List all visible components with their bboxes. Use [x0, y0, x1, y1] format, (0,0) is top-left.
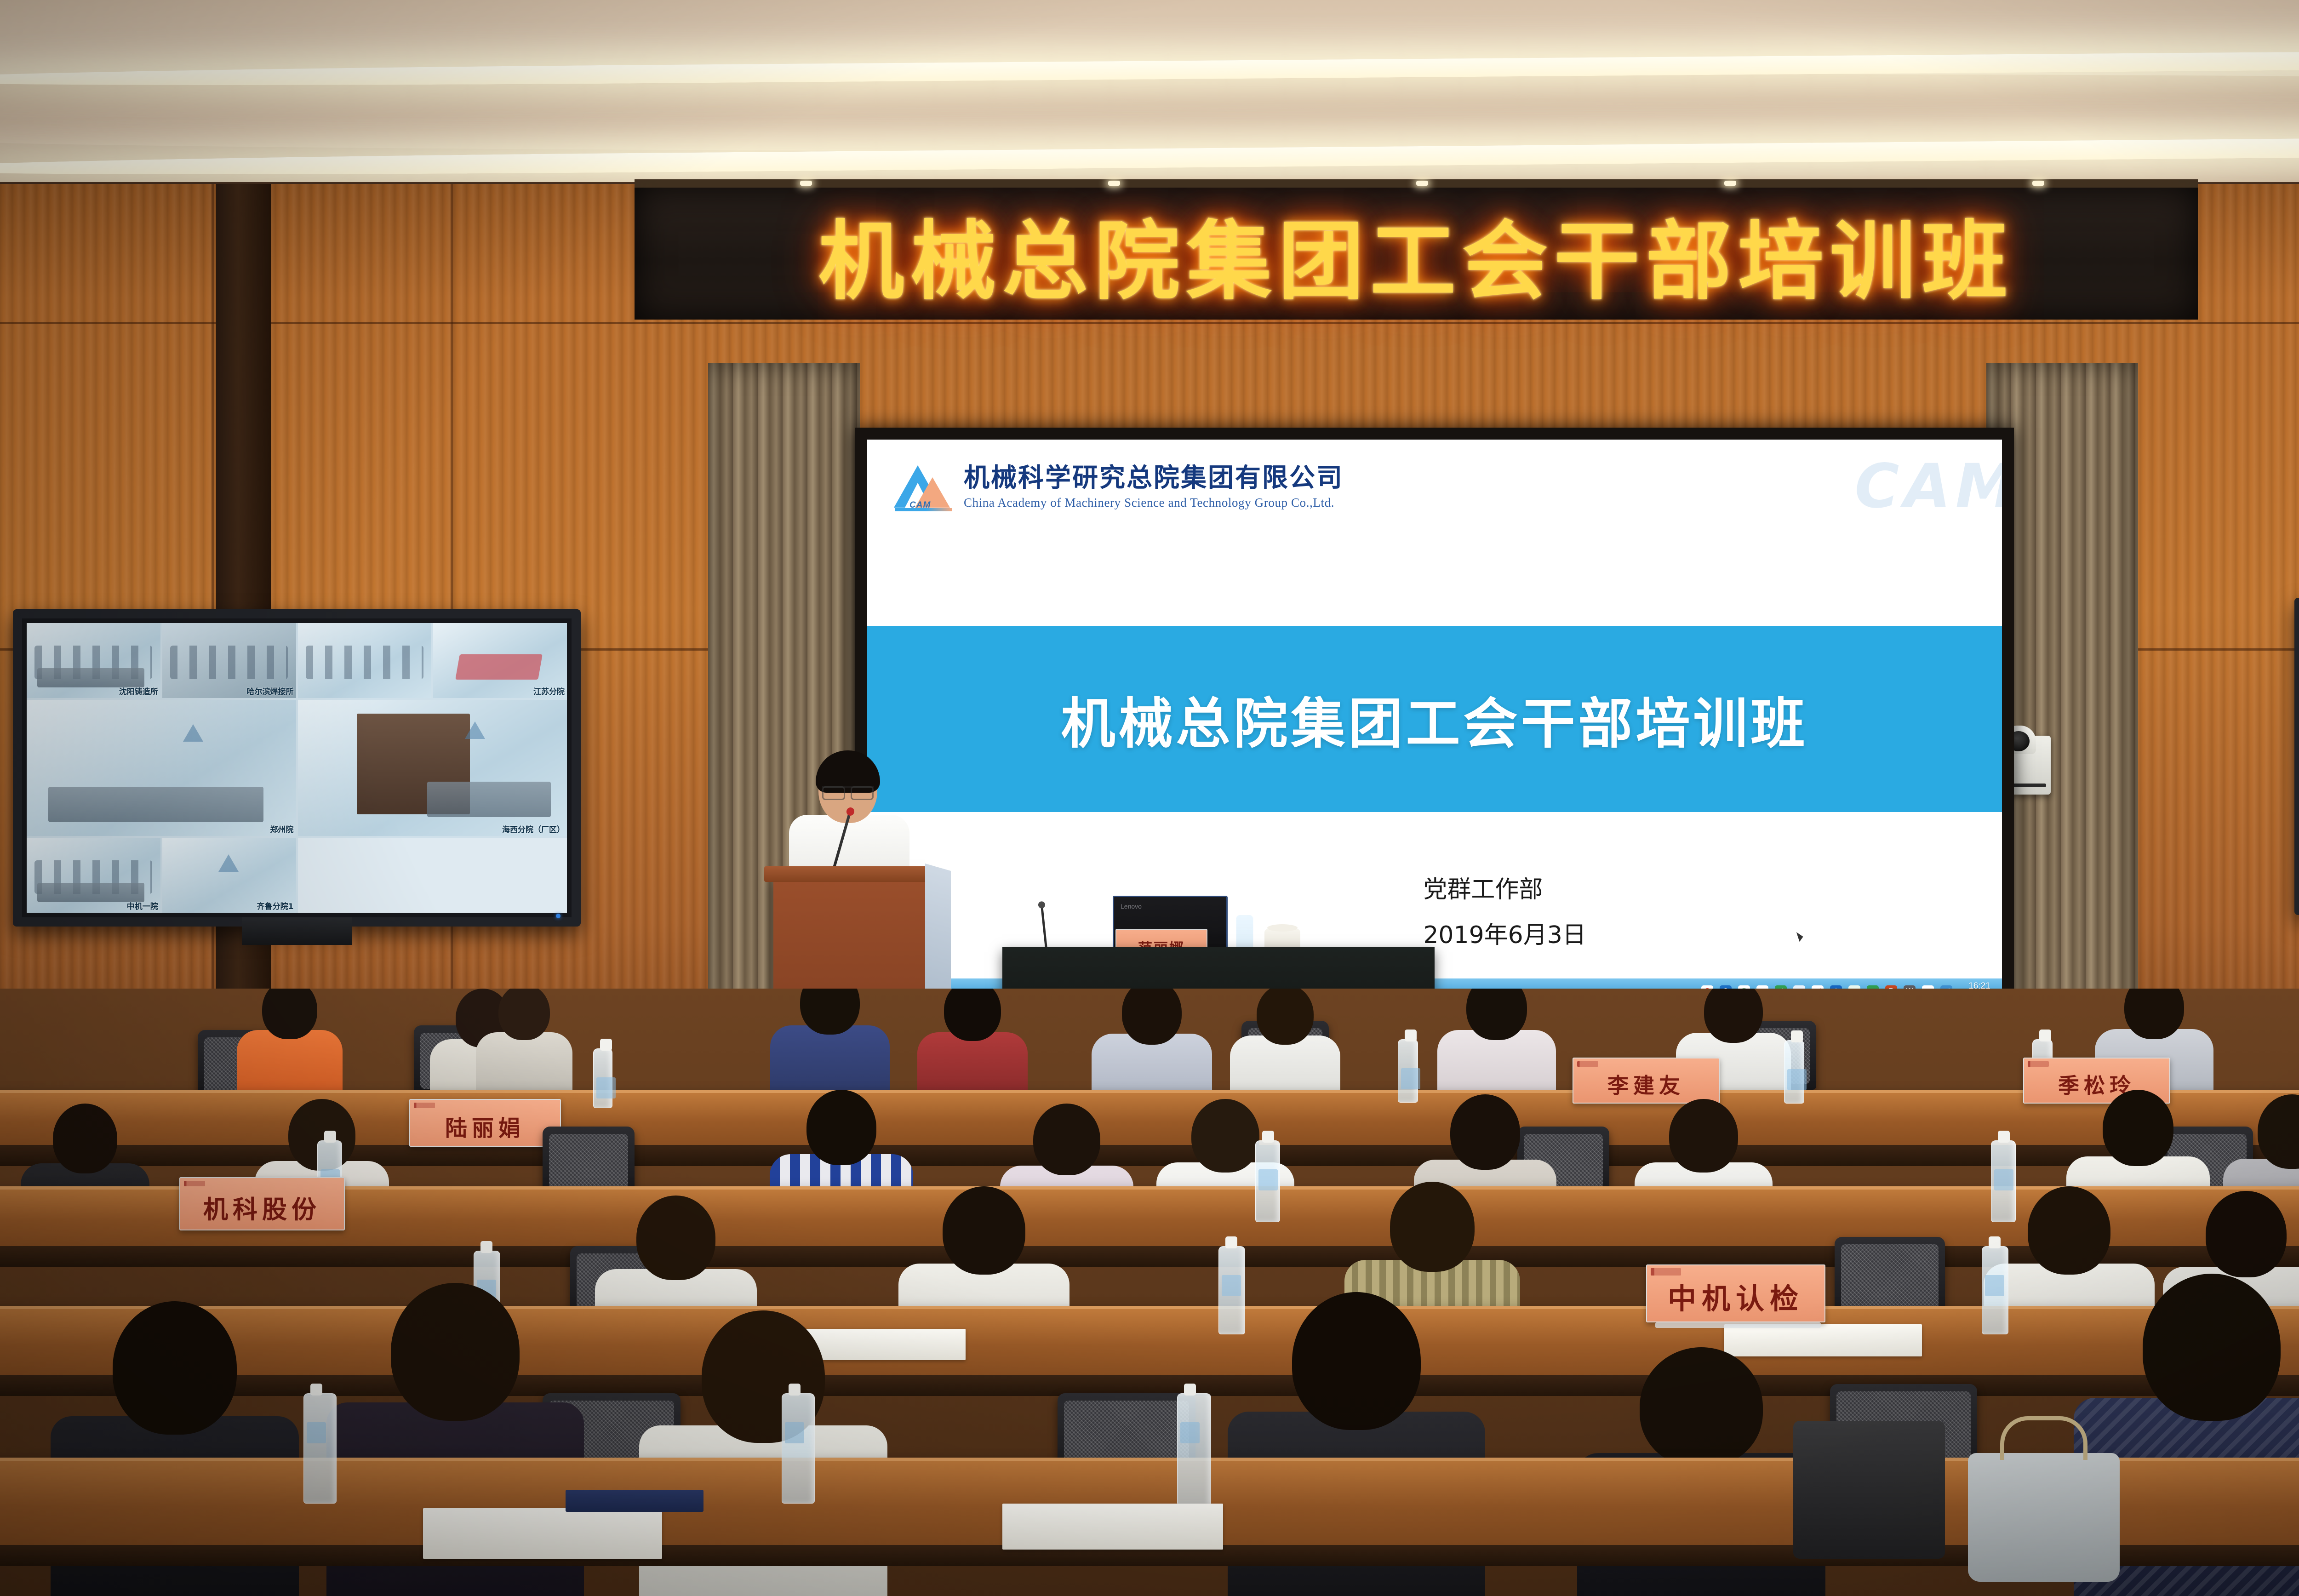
- water-bottle: [303, 1393, 337, 1504]
- attendee: [478, 989, 570, 1099]
- placard-zhongji-renjian: 中机认检: [1646, 1264, 1825, 1322]
- water-bottle: [1982, 1246, 2008, 1334]
- org-name-en: China Academy of Machinery Science and T…: [964, 496, 1344, 510]
- water-bottle: [1177, 1393, 1211, 1505]
- slide-header: CAM 机械科学研究总院集团有限公司 China Academy of Mach…: [867, 440, 2002, 626]
- cam-logo-icon: CAM: [894, 463, 952, 511]
- handbag: [1968, 1453, 2120, 1582]
- water-bottle: [1398, 1039, 1418, 1103]
- video-tile: 齐鲁分院1: [162, 838, 296, 913]
- conference-room-photo: 机械总院集团工会干部培训班 CAM 机械科学研究: [0, 0, 2299, 1596]
- projection-screen: CAM 机械科学研究总院集团有限公司 China Academy of Mach…: [855, 428, 2014, 1016]
- water-bottle: [1255, 1140, 1280, 1222]
- video-wall-monitor-left: 沈阳铸造所 哈尔滨焊接所 江苏分院 郑州院 海西分院（厂区） 中机一院 齐鲁分院…: [13, 609, 581, 927]
- placard-lu-lijuan: 陆丽娟: [409, 1099, 561, 1147]
- led-banner: 机械总院集团工会干部培训班: [635, 184, 2198, 320]
- attendee: [239, 989, 340, 1104]
- video-tile: 中机一院: [27, 838, 160, 913]
- handout-paper: [1002, 1504, 1223, 1550]
- slide-title: 机械总院集团工会干部培训班: [1061, 680, 1808, 758]
- video-tile: 沈阳铸造所: [27, 623, 160, 698]
- ceiling-band: [0, 74, 2299, 152]
- cam-logo-text: CAM: [909, 500, 931, 510]
- video-tile-blank: [298, 838, 567, 913]
- water-bottle: [1784, 1040, 1804, 1104]
- backpack: [1793, 1421, 1945, 1559]
- slide-title-band: 机械总院集团工会干部培训班: [867, 626, 2002, 812]
- led-banner-text: 机械总院集团工会干部培训班: [818, 192, 2014, 316]
- laptop-brand-label: Lenovo: [1121, 903, 1142, 910]
- table-row: [0, 1186, 2299, 1246]
- cam-watermark: CAM: [1855, 456, 2002, 517]
- audience-area: 李建友 季松玲 机电所 陆丽娟: [0, 989, 2299, 1596]
- slide-department: 党群工作部: [1423, 867, 1586, 913]
- glasses-icon: [822, 786, 874, 796]
- presentation-slide: CAM 机械科学研究总院集团有限公司 China Academy of Mach…: [867, 440, 2002, 1004]
- notebook: [566, 1490, 703, 1512]
- video-wall-monitor-right: 沈阳铸造所 哈尔滨焊接所 江苏分院 郑州院 海西分院（厂区） 中机一院 齐鲁分院…: [2294, 598, 2299, 915]
- video-tile: [298, 623, 432, 698]
- banner-downlights: [635, 179, 2198, 188]
- tv-power-led-icon: [556, 914, 560, 918]
- video-tile: 海西分院（厂区）: [298, 700, 567, 836]
- handbag-handle: [2000, 1416, 2087, 1460]
- mouse-cursor-icon: [1796, 931, 1804, 942]
- video-tile: 江苏分院: [433, 623, 567, 698]
- placard-li-jianyou: 李建友: [1573, 1058, 1720, 1104]
- video-tile: 郑州院: [27, 700, 296, 836]
- tv-stand: [242, 917, 352, 945]
- org-name-cn: 机械科学研究总院集团有限公司: [964, 465, 1344, 492]
- slide-meta-block: 党群工作部 2019年6月3日: [1423, 867, 1586, 958]
- water-bottle: [593, 1048, 612, 1108]
- water-bottle: [782, 1393, 815, 1504]
- ceiling: [0, 0, 2299, 184]
- handout-paper: [423, 1508, 662, 1559]
- placard-jike-gufen: 机科股份: [179, 1177, 345, 1230]
- video-tile: 哈尔滨焊接所: [162, 623, 296, 698]
- slide-date: 2019年6月3日: [1423, 913, 1586, 958]
